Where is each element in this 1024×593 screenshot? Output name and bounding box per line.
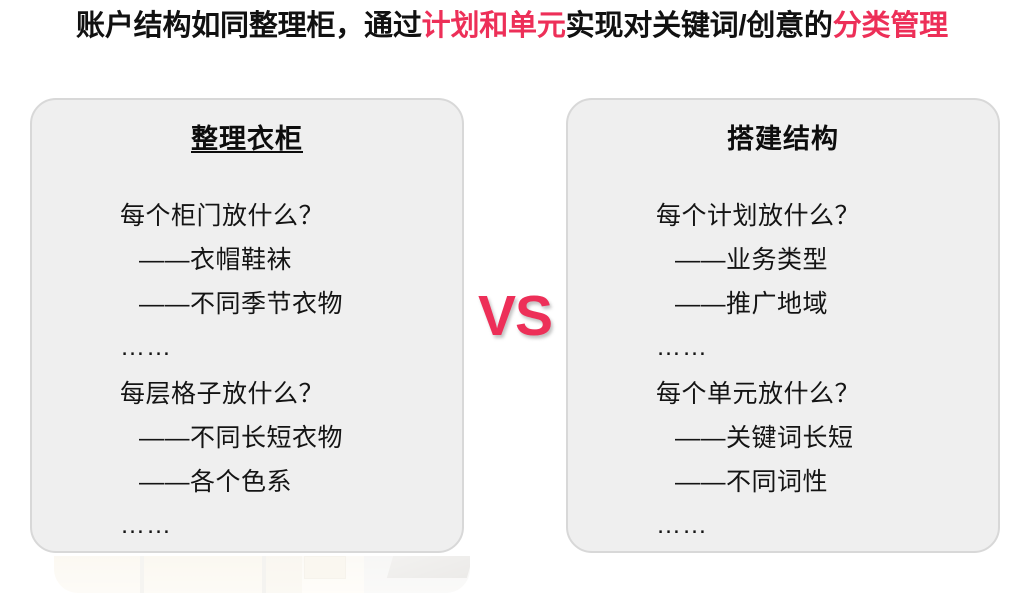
card-structure: 搭建结构 每个计划放什么？ ——业务类型 ——推广地域 …… 每个单元放什么？ … bbox=[566, 98, 1000, 553]
title-segment-4-accent: 分类管理 bbox=[833, 10, 948, 42]
card-wardrobe-header: 整理衣柜 bbox=[32, 117, 462, 156]
wardrobe-photo-drawer bbox=[304, 556, 346, 579]
wardrobe-photo-shelf bbox=[387, 556, 470, 578]
card-structure-group-2-item-1: ——关键词长短 bbox=[675, 416, 998, 460]
title-segment-3: 实现对关键词/创意的 bbox=[566, 10, 833, 42]
wardrobe-photo-pane bbox=[54, 556, 140, 593]
card-wardrobe-group-1-ellipsis: …… bbox=[120, 326, 462, 368]
title-segment-1: 账户结构如同整理柜，通过 bbox=[76, 10, 422, 42]
card-structure-group-2-item-2: ——不同词性 bbox=[675, 460, 998, 504]
card-structure-group-1-item-2: ——推广地域 bbox=[675, 282, 998, 326]
card-wardrobe-group-2-ellipsis: …… bbox=[120, 504, 462, 546]
card-structure-group-1-item-1: ——业务类型 bbox=[675, 238, 998, 282]
card-structure-group-2-ellipsis: …… bbox=[656, 504, 998, 546]
card-structure-body: 每个计划放什么？ ——业务类型 ——推广地域 …… 每个单元放什么？ ——关键词… bbox=[568, 194, 998, 546]
card-wardrobe-group-2-question: 每层格子放什么？ bbox=[120, 372, 462, 416]
card-wardrobe-group-2-item-2: ——各个色系 bbox=[139, 460, 462, 504]
card-wardrobe-group-1-item-1: ——衣帽鞋袜 bbox=[139, 238, 462, 282]
wardrobe-photo-pane bbox=[266, 556, 302, 593]
card-structure-header: 搭建结构 bbox=[568, 117, 998, 156]
wardrobe-photo bbox=[54, 556, 470, 593]
card-wardrobe-group-2-item-1: ——不同长短衣物 bbox=[139, 416, 462, 460]
vs-badge: VS bbox=[464, 283, 566, 349]
wardrobe-photo-pane bbox=[144, 556, 262, 593]
card-wardrobe: 整理衣柜 每个柜门放什么？ ——衣帽鞋袜 ——不同季节衣物 …… 每层格子放什么… bbox=[30, 98, 464, 553]
card-wardrobe-group-1-question: 每个柜门放什么？ bbox=[120, 194, 462, 238]
card-wardrobe-group-1-item-2: ——不同季节衣物 bbox=[139, 282, 462, 326]
slide-title: 账户结构如同整理柜，通过计划和单元实现对关键词/创意的分类管理 bbox=[0, 4, 1024, 48]
card-structure-group-1-ellipsis: …… bbox=[656, 326, 998, 368]
card-wardrobe-body: 每个柜门放什么？ ——衣帽鞋袜 ——不同季节衣物 …… 每层格子放什么？ ——不… bbox=[32, 194, 462, 546]
card-structure-group-2-question: 每个单元放什么？ bbox=[656, 372, 998, 416]
card-structure-group-1-question: 每个计划放什么？ bbox=[656, 194, 998, 238]
title-segment-2-accent: 计划和单元 bbox=[422, 10, 566, 42]
